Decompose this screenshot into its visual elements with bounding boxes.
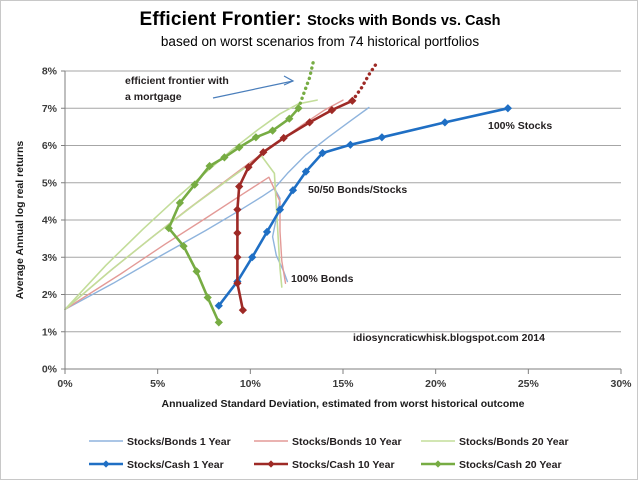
series-marker-6-11 (505, 105, 512, 112)
series-marker-7-3 (234, 230, 241, 237)
ytick-label-6: 6% (42, 140, 58, 152)
legend-item-stocks-bonds-1-year[interactable]: Stocks/Bonds 1 Year (89, 436, 231, 448)
efficient-frontier-chart: Efficient Frontier: Stocks with Bonds vs… (1, 1, 637, 479)
legend-label: Stocks/Cash 1 Year (127, 459, 224, 471)
ytick-label-1: 1% (42, 326, 58, 338)
xtick-label-4: 20% (425, 378, 447, 390)
hundred-stocks-label: 100% Stocks (488, 120, 552, 132)
legend-item-stocks-cash-20-year[interactable]: Stocks/Cash 20 Year (421, 459, 562, 471)
series-marker-7-0 (240, 307, 247, 314)
ytick-label-4: 4% (42, 215, 58, 227)
xtick-label-3: 15% (332, 378, 354, 390)
series-line-stocks-cash-1-year (219, 108, 508, 305)
chart-title-group: Efficient Frontier: Stocks with Bonds vs… (139, 9, 500, 49)
legend-item-stocks-cash-10-year[interactable]: Stocks/Cash 10 Year (254, 459, 395, 471)
ytick-label-5: 5% (42, 177, 58, 189)
xtick-label-5: 25% (518, 378, 540, 390)
legend-label: Stocks/Cash 10 Year (292, 459, 395, 471)
ytick-label-3: 3% (42, 252, 58, 264)
page-title: Efficient Frontier: Stocks with Bonds vs… (139, 9, 500, 30)
series-marker-7-2 (234, 254, 241, 261)
series-line-stocks-bonds-10-year-descending-tail (65, 177, 286, 309)
efficient-frontier-note-line2: a mortgage (125, 91, 182, 103)
series-marker-6-8 (347, 141, 354, 148)
chart-legend: Stocks/Bonds 1 YearStocks/Bonds 10 YearS… (89, 436, 569, 471)
credit-text: idiosyncraticwhisk.blogspot.com 2014 (353, 332, 545, 344)
ytick-label-0: 0% (42, 364, 58, 376)
series-marker-6-9 (379, 134, 386, 141)
legend-label: Stocks/Bonds 10 Year (292, 436, 402, 448)
series-marker-6-10 (442, 119, 449, 126)
y-axis-title: Average Annual log real returns (14, 141, 26, 300)
efficient-frontier-note-line1: efficient frontier with (125, 75, 229, 87)
chart-canvas: Efficient Frontier: Stocks with Bonds vs… (1, 1, 638, 481)
series-marker-7-4 (234, 206, 241, 213)
x-axis-title: Annualized Standard Deviation, estimated… (162, 398, 525, 410)
legend-label: Stocks/Bonds 20 Year (459, 436, 569, 448)
xtick-label-2: 10% (240, 378, 262, 390)
legend-item-stocks-bonds-10-year[interactable]: Stocks/Bonds 10 Year (254, 436, 402, 448)
legend-label: Stocks/Cash 20 Year (459, 459, 562, 471)
legend-marker-icon (267, 460, 274, 467)
arrow-head-icon (284, 76, 293, 85)
legend-item-stocks-bonds-20-year[interactable]: Stocks/Bonds 20 Year (421, 436, 569, 448)
xtick-label-6: 30% (610, 378, 632, 390)
hundred-bonds-label: 100% Bonds (291, 273, 354, 285)
ytick-label-8: 8% (42, 66, 58, 78)
chart-window: Efficient Frontier: Stocks with Bonds vs… (0, 0, 638, 480)
legend-marker-icon (434, 460, 441, 467)
xtick-label-1: 5% (150, 378, 166, 390)
series-line-stocks-cash-10-year-mortgage-extension (352, 64, 376, 101)
legend-item-stocks-cash-1-year[interactable]: Stocks/Cash 1 Year (89, 459, 224, 471)
xtick-label-0: 0% (57, 378, 73, 390)
ytick-label-2: 2% (42, 289, 58, 301)
legend-label: Stocks/Bonds 1 Year (127, 436, 231, 448)
title-emphasis: Stocks with Bonds vs. Cash (307, 13, 500, 29)
ytick-label-7: 7% (42, 103, 58, 115)
fifty-fifty-label: 50/50 Bonds/Stocks (308, 184, 407, 196)
title-main: Efficient Frontier: (139, 9, 307, 30)
legend-marker-icon (102, 460, 109, 467)
series-line-stocks-bonds-1-year (65, 188, 287, 309)
chart-subtitle: based on worst scenarios from 74 histori… (161, 34, 479, 49)
